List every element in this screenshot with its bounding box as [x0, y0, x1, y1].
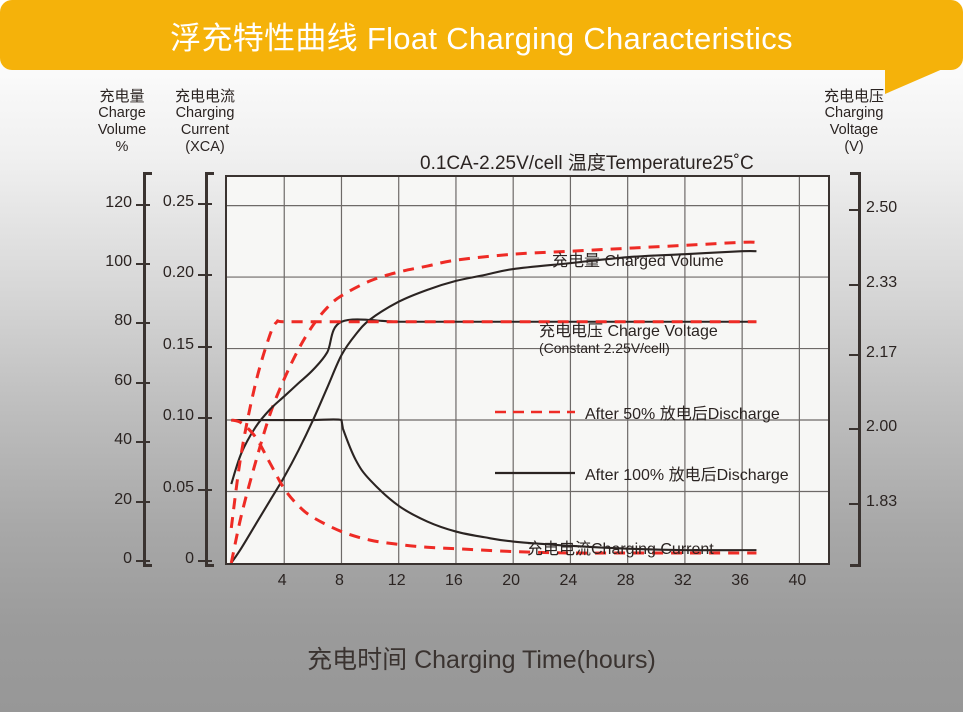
axis-caption-line: (V) — [812, 139, 896, 156]
axis-caption-line: (XCA) — [163, 139, 247, 156]
axis-tick-label: 0.15 — [140, 336, 194, 354]
axis-caption-line: Current — [163, 122, 247, 139]
axis-tick-label: 2.33 — [866, 274, 926, 292]
axis-tick-label: 2.50 — [866, 199, 926, 217]
axis-caption-line: 充电电压 — [812, 88, 896, 105]
axis-tick-label: 28 — [610, 572, 642, 590]
axis-tick-label: 40 — [781, 572, 813, 590]
legend-swatch-after-100 — [495, 470, 575, 476]
axis-spine-current-bottom-cap — [205, 564, 214, 567]
axis-caption-line: % — [82, 139, 162, 156]
axis-tick-label: 60 — [78, 372, 132, 390]
axis-tick — [849, 503, 861, 505]
axis-tick — [198, 560, 212, 562]
axis-tick-label: 20 — [495, 572, 527, 590]
annotation-charge-voltage: 充电电压 Charge Voltage — [539, 317, 718, 341]
axis-caption-charge-volume: 充电量 Charge Volume % — [82, 88, 162, 156]
axis-tick — [198, 203, 212, 205]
axis-tick-label: 16 — [438, 572, 470, 590]
axis-caption-charging-voltage: 充电电压 Charging Voltage (V) — [812, 88, 896, 156]
axis-tick-label: 0.05 — [140, 479, 194, 497]
axis-tick-label: 1.83 — [866, 493, 926, 511]
axis-tick — [198, 346, 212, 348]
title-banner: 浮充特性曲线 Float Charging Characteristics — [0, 0, 963, 70]
axis-tick — [849, 209, 861, 211]
chart-curves — [227, 177, 828, 563]
axis-spine-voltage-bottom-cap — [850, 564, 859, 567]
annotation-charged-volume: 充电量 Charged Volume — [552, 247, 724, 271]
axis-spine-voltage-top-cap — [850, 172, 859, 175]
axis-tick-label: 120 — [78, 194, 132, 212]
axis-tick — [136, 322, 150, 324]
legend-label-after-50: After 50% 放电后Discharge — [585, 400, 780, 424]
axis-tick — [198, 489, 212, 491]
axis-tick — [136, 382, 150, 384]
axis-caption-line: 充电电流 — [163, 88, 247, 105]
axis-caption-charging-current: 充电电流 Charging Current (XCA) — [163, 88, 247, 156]
chart-condition-note: 0.1CA-2.25V/cell 温度Temperature25˚C — [420, 148, 754, 175]
axis-tick — [849, 354, 861, 356]
axis-tick-label: 2.17 — [866, 344, 926, 362]
axis-tick-label: 8 — [323, 572, 355, 590]
axis-tick — [198, 274, 212, 276]
axis-tick — [136, 501, 150, 503]
curve — [231, 420, 756, 553]
axis-tick-label: 80 — [78, 312, 132, 330]
axis-tick-label: 12 — [381, 572, 413, 590]
axis-spine-current — [205, 172, 208, 567]
axis-tick-label: 2.00 — [866, 418, 926, 436]
axis-tick-label: 20 — [78, 491, 132, 509]
axis-caption-line: Charge — [82, 105, 162, 122]
x-axis-title: 充电时间 Charging Time(hours) — [0, 640, 963, 676]
axis-caption-line: Volume — [82, 122, 162, 139]
axis-tick-label: 24 — [552, 572, 584, 590]
axis-tick-label: 100 — [78, 253, 132, 271]
axis-spine-current-top-cap — [205, 172, 214, 175]
legend-label-after-100: After 100% 放电后Discharge — [585, 461, 789, 485]
legend-swatch-after-50 — [495, 409, 575, 415]
axis-tick — [849, 428, 861, 430]
annotation-charging-current: 充电电流Charging Current — [527, 535, 714, 559]
axis-tick-label: 0.10 — [140, 407, 194, 425]
axis-tick-label: 0 — [140, 550, 194, 568]
axis-spine-voltage — [858, 172, 861, 567]
axis-caption-line: Charging — [812, 105, 896, 122]
axis-tick-label: 36 — [724, 572, 756, 590]
axis-tick-label: 0.20 — [140, 264, 194, 282]
axis-tick-label: 0.25 — [140, 193, 194, 211]
axis-tick-label: 4 — [266, 572, 298, 590]
axis-caption-line: Charging — [163, 105, 247, 122]
axis-caption-line: 充电量 — [82, 88, 162, 105]
axis-tick — [136, 441, 150, 443]
page-title: 浮充特性曲线 Float Charging Characteristics — [0, 0, 963, 70]
axis-tick-label: 40 — [78, 431, 132, 449]
axis-tick — [849, 284, 861, 286]
chart-plot-area: 充电量 Charged Volume 充电电压 Charge Voltage (… — [225, 175, 830, 565]
axis-tick-label: 0 — [78, 550, 132, 568]
axis-tick-label: 32 — [667, 572, 699, 590]
axis-spine-volume-top-cap — [143, 172, 152, 175]
annotation-charge-voltage-sub: (Constant 2.25V/cell) — [539, 340, 670, 356]
axis-spine-volume — [143, 172, 146, 567]
axis-tick — [198, 417, 212, 419]
axis-caption-line: Voltage — [812, 122, 896, 139]
